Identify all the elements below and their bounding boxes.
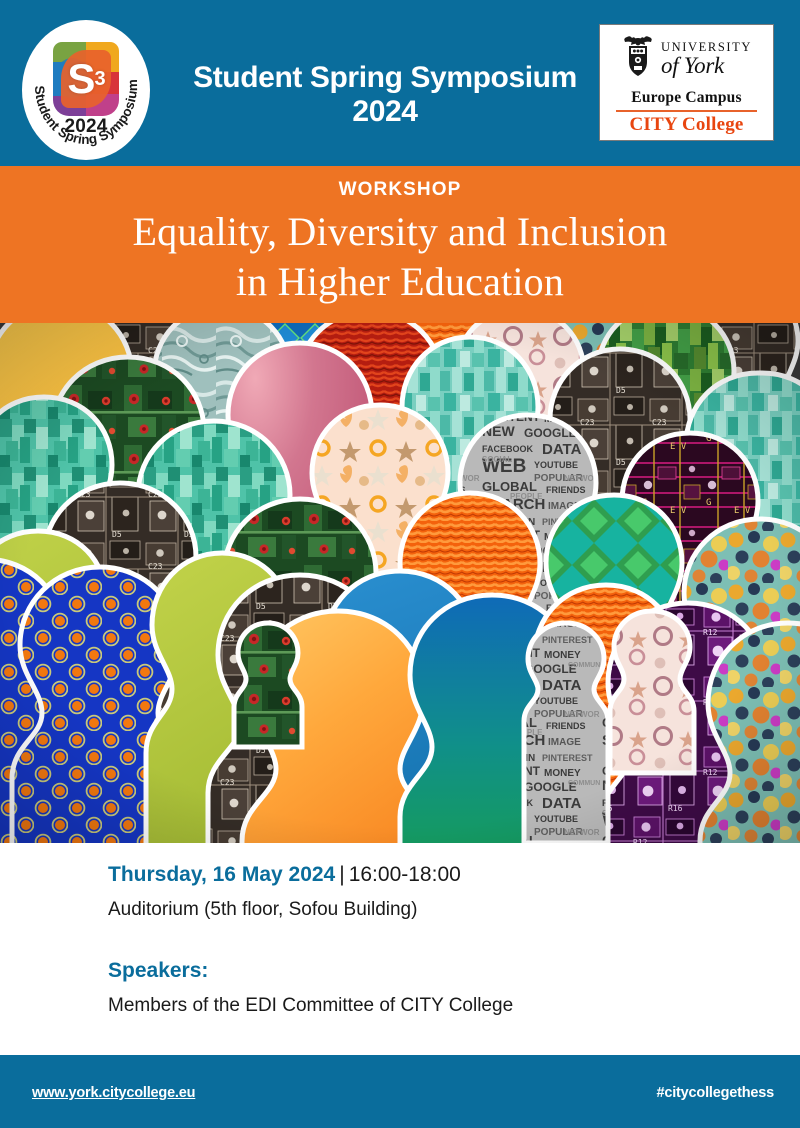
workshop-title-line-1: Equality, Diversity and Inclusion — [0, 207, 800, 257]
event-venue: Auditorium (5th floor, Sofou Building) — [108, 899, 728, 921]
badge-ring-text-svg: Student Spring Symposium — [22, 20, 150, 160]
datetime-separator: | — [335, 863, 348, 886]
logo-city-college-text: CITY College — [608, 114, 765, 136]
banner-kicker: WORKSHOP — [0, 179, 800, 201]
workshop-title-line-2: in Higher Education — [0, 257, 800, 307]
logo-europe-campus-text: Europe Campus — [608, 89, 765, 107]
logo-university-text: UNIVERSITY — [661, 41, 752, 54]
poster-canvas: S3 2024 Student Spring Symposium Student… — [0, 0, 800, 1128]
logo-wordmark: UNIVERSITY of York — [661, 41, 752, 78]
poster-header: S3 2024 Student Spring Symposium Student… — [0, 0, 800, 166]
logo-top-row: UNIVERSITY of York — [608, 31, 765, 87]
workshop-banner: WORKSHOP Equality, Diversity and Inclusi… — [0, 166, 800, 323]
event-time: 16:00-18:00 — [349, 863, 461, 886]
event-datetime-row: Thursday, 16 May 2024|16:00-18:00 — [108, 862, 728, 887]
logo-of-york-text: of York — [661, 54, 752, 77]
logo-divider — [616, 110, 757, 112]
university-of-york-logo: UNIVERSITY of York Europe Campus CITY Co… — [599, 24, 774, 141]
symposium-badge-logo: S3 2024 Student Spring Symposium — [22, 20, 150, 160]
badge-ring-label: Student Spring Symposium — [32, 79, 140, 147]
collage-vignette — [0, 323, 800, 843]
page-title: Student Spring Symposium 2024 — [170, 61, 600, 129]
collage-svg: C23 D5 R12 R16 — [0, 323, 800, 843]
website-link[interactable]: www.york.citycollege.eu — [32, 1085, 195, 1101]
event-details: Thursday, 16 May 2024|16:00-18:00 Audito… — [108, 862, 728, 1017]
speakers-list: Members of the EDI Committee of CITY Col… — [108, 995, 728, 1017]
diversity-collage-illustration: C23 D5 R12 R16 — [0, 323, 800, 843]
event-date: Thursday, 16 May 2024 — [108, 863, 335, 886]
speakers-heading: Speakers: — [108, 959, 728, 983]
badge-ring-text: Student Spring Symposium — [32, 79, 140, 147]
social-hashtag: #citycollegethess — [657, 1085, 775, 1101]
poster-footer: www.york.citycollege.eu #citycollegethes… — [0, 1055, 800, 1128]
coat-of-arms-icon — [621, 35, 655, 83]
